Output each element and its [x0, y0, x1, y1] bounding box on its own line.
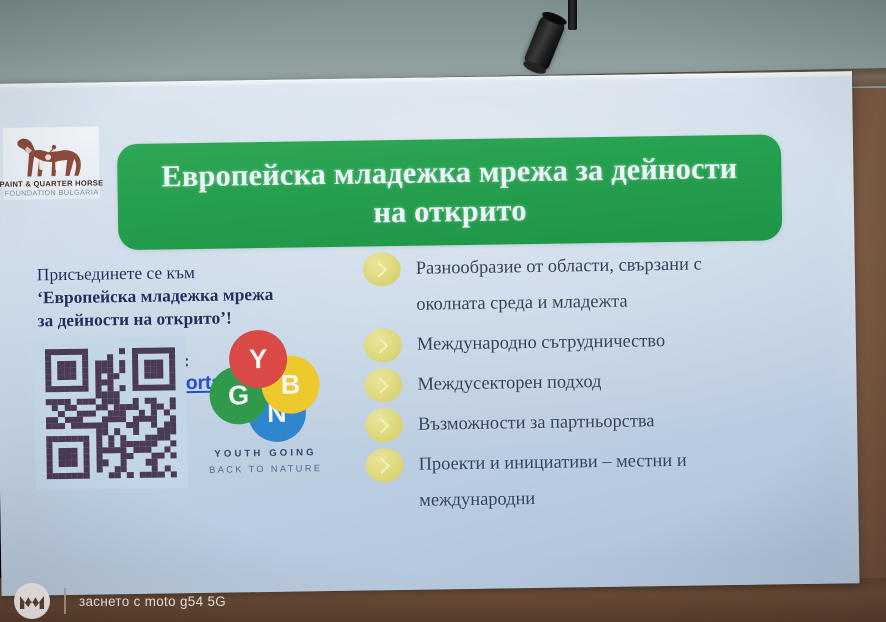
chevron-right-icon	[364, 328, 403, 363]
watermark-divider	[64, 588, 66, 614]
ygn-tagline-1: YOUTH GOING	[204, 447, 326, 460]
bullet-text: Възможности за партньорства	[418, 400, 825, 442]
chevron-right-icon	[365, 448, 404, 483]
motorola-logo-icon	[14, 583, 50, 619]
bullet-item: Разнообразие от области, свързани соколн…	[363, 244, 824, 323]
bullet-item: Международно сътрудничество	[364, 320, 824, 363]
ygn-logo: Y B G N YOUTH GOING BACK TO NATURE	[203, 327, 327, 479]
spotlight-rod	[568, 0, 577, 30]
chevron-right-icon	[363, 252, 402, 287]
bullet-item: Междусекторен подход	[364, 360, 824, 403]
qr-code-grid	[45, 347, 177, 479]
camera-watermark: заснето с moto g54 5G	[14, 582, 226, 620]
bullet-item: Проекти и инициативи – местни имеждунаро…	[365, 440, 826, 519]
bullet-text: Разнообразие от области, свързани с	[416, 244, 823, 286]
slide-title-banner: Европейска младежка мрежа за дейности на…	[117, 134, 782, 250]
projection-screen: PAINT & QUARTER HORSE FOUNDATION BULGARI…	[0, 71, 860, 596]
bullet-continuation: околната среда и младежта	[416, 280, 823, 322]
bullet-text: Междусекторен подход	[417, 360, 824, 402]
watermark-text: заснето с moto g54 5G	[79, 594, 226, 609]
bullet-item: Възможности за партньорства	[365, 400, 825, 443]
ygn-tagline-2: BACK TO NATURE	[205, 463, 327, 475]
bullet-text: Проекти и инициативи – местни и	[418, 440, 825, 482]
horse-icon	[8, 131, 95, 180]
photo-scene: PAINT & QUARTER HORSE FOUNDATION BULGARI…	[0, 0, 886, 622]
chevron-right-icon	[365, 408, 404, 443]
bullet-list: Разнообразие от области, свързани соколн…	[363, 244, 827, 523]
foundation-logo: PAINT & QUARTER HORSE FOUNDATION BULGARI…	[3, 126, 100, 199]
ygn-balls: Y B G N	[203, 327, 327, 441]
bullet-continuation: международни	[419, 476, 826, 518]
qr-code-icon[interactable]	[34, 336, 188, 490]
chevron-right-icon	[364, 368, 403, 403]
slide-title: Европейска младежка мрежа за дейности на…	[117, 148, 782, 236]
foundation-logo-line2: FOUNDATION BULGARIA	[5, 187, 99, 197]
bullet-text: Международно сътрудничество	[417, 320, 824, 362]
